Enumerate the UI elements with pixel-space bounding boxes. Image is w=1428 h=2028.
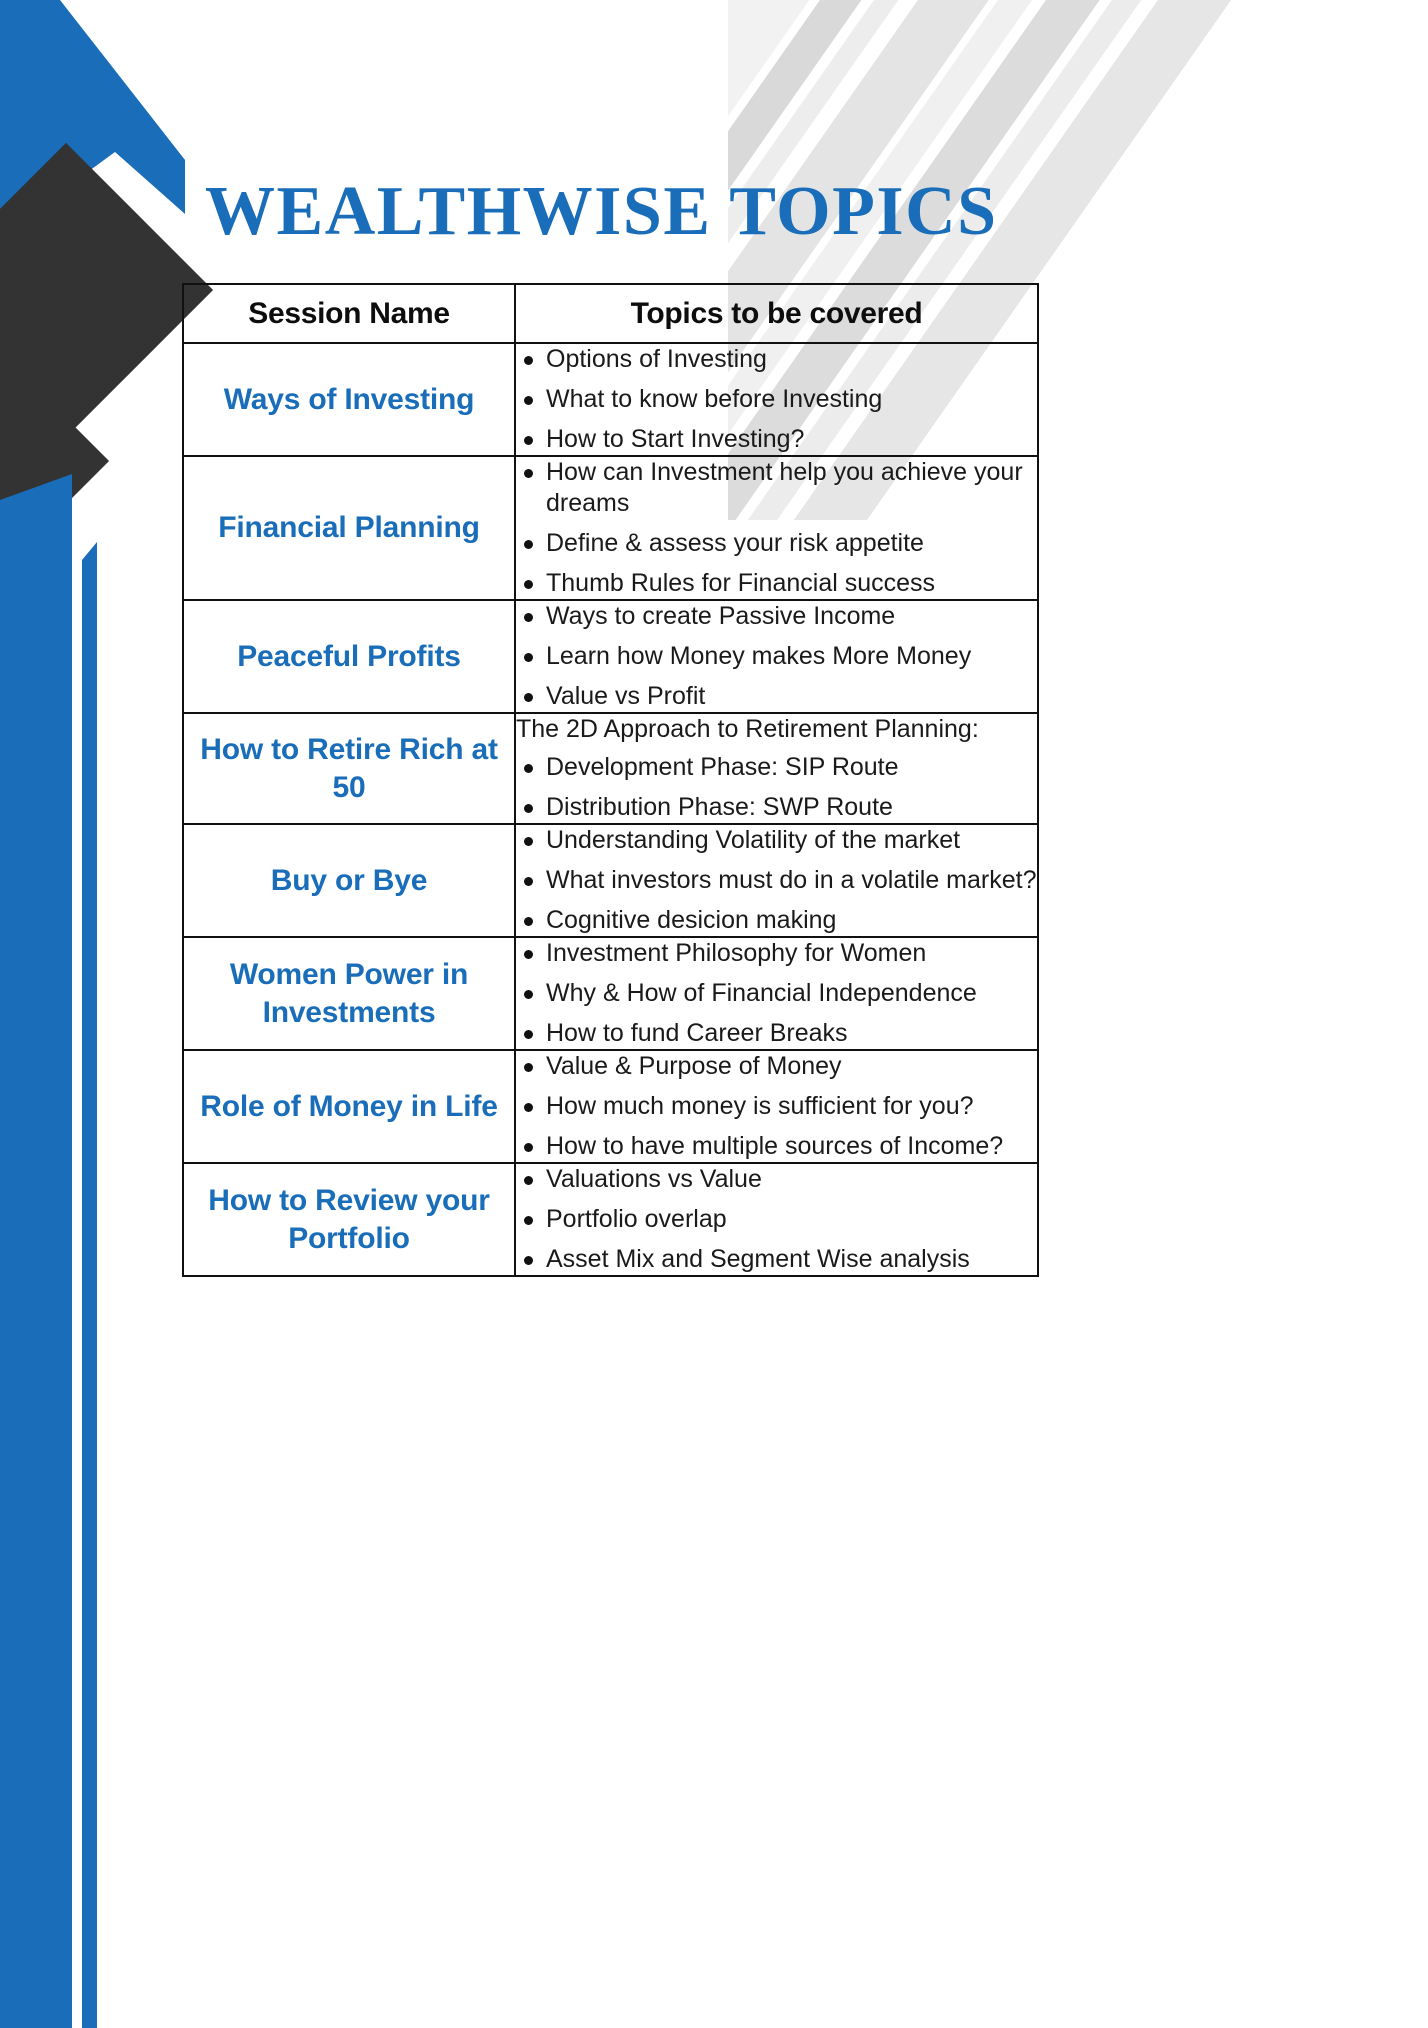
topic-item: What to know before Investing (546, 384, 1037, 415)
topic-item: Define & assess your risk appetite (546, 528, 1037, 559)
topic-item: How can Investment help you achieve your… (546, 457, 1037, 519)
topics-cell: Valuations vs ValuePortfolio overlapAsse… (515, 1163, 1038, 1276)
session-name-cell: Financial Planning (183, 456, 515, 600)
topic-item: How to fund Career Breaks (546, 1018, 1037, 1049)
topics-list: How can Investment help you achieve your… (516, 457, 1037, 599)
topic-item: How to have multiple sources of Income? (546, 1131, 1037, 1162)
topic-item: Distribution Phase: SWP Route (546, 792, 1037, 823)
topic-item: Options of Investing (546, 344, 1037, 375)
topic-item: Cognitive desicion making (546, 905, 1037, 936)
topics-cell: Value & Purpose of MoneyHow much money i… (515, 1050, 1038, 1163)
blue-chevron-shape (0, 0, 185, 430)
session-name-cell: How to Review your Portfolio (183, 1163, 515, 1276)
dark-diamond-small-shape (0, 355, 109, 567)
table-row: How to Review your PortfolioValuations v… (183, 1163, 1038, 1276)
table-header: Session Name Topics to be covered (183, 284, 1038, 343)
topic-item: Valuations vs Value (546, 1164, 1037, 1195)
page-title: WEALTHWISE TOPICS (205, 172, 998, 252)
topics-cell: Investment Philosophy for WomenWhy & How… (515, 937, 1038, 1050)
topics-intro-line: The 2D Approach to Retirement Planning: (516, 714, 1037, 745)
topic-item: Value vs Profit (546, 681, 1037, 712)
blue-thin-vertical-bar (82, 560, 97, 2028)
session-name-cell: Role of Money in Life (183, 1050, 515, 1163)
topics-list: Development Phase: SIP RouteDistribution… (516, 752, 1037, 823)
wealthwise-topics-table: Session Name Topics to be covered Ways o… (182, 283, 1039, 1277)
column-header-topics: Topics to be covered (515, 284, 1038, 343)
topics-cell: The 2D Approach to Retirement Planning:D… (515, 713, 1038, 824)
topic-item: Thumb Rules for Financial success (546, 568, 1037, 599)
topics-cell: Understanding Volatility of the marketWh… (515, 824, 1038, 937)
topic-item: Why & How of Financial Independence (546, 978, 1037, 1009)
session-name-cell: How to Retire Rich at 50 (183, 713, 515, 824)
session-name-cell: Women Power in Investments (183, 937, 515, 1050)
topics-list: Understanding Volatility of the marketWh… (516, 825, 1037, 936)
table-header-row: Session Name Topics to be covered (183, 284, 1038, 343)
session-name-cell: Peaceful Profits (183, 600, 515, 713)
topics-list: Ways to create Passive IncomeLearn how M… (516, 601, 1037, 712)
session-name-cell: Buy or Bye (183, 824, 515, 937)
topics-cell: Ways to create Passive IncomeLearn how M… (515, 600, 1038, 713)
table-row: How to Retire Rich at 50The 2D Approach … (183, 713, 1038, 824)
topic-item: Investment Philosophy for Women (546, 938, 1037, 969)
topics-cell: How can Investment help you achieve your… (515, 456, 1038, 600)
topic-item: Development Phase: SIP Route (546, 752, 1037, 783)
topic-item: Understanding Volatility of the market (546, 825, 1037, 856)
topic-item: How to Start Investing? (546, 424, 1037, 455)
table-row: Financial PlanningHow can Investment hel… (183, 456, 1038, 600)
table-body: Ways of InvestingOptions of InvestingWha… (183, 343, 1038, 1276)
topic-item: What investors must do in a volatile mar… (546, 865, 1037, 896)
topic-item: Asset Mix and Segment Wise analysis (546, 1244, 1037, 1275)
session-name-cell: Ways of Investing (183, 343, 515, 456)
table-row: Peaceful ProfitsWays to create Passive I… (183, 600, 1038, 713)
table-row: Buy or ByeUnderstanding Volatility of th… (183, 824, 1038, 937)
topic-item: Ways to create Passive Income (546, 601, 1037, 632)
table-row: Women Power in InvestmentsInvestment Phi… (183, 937, 1038, 1050)
topic-item: Portfolio overlap (546, 1204, 1037, 1235)
topics-cell: Options of InvestingWhat to know before … (515, 343, 1038, 456)
topic-item: Learn how Money makes More Money (546, 641, 1037, 672)
topics-list: Valuations vs ValuePortfolio overlapAsse… (516, 1164, 1037, 1275)
table-row: Ways of InvestingOptions of InvestingWha… (183, 343, 1038, 456)
column-header-session-name: Session Name (183, 284, 515, 343)
topic-item: How much money is sufficient for you? (546, 1091, 1037, 1122)
topics-list: Options of InvestingWhat to know before … (516, 344, 1037, 455)
topic-item: Value & Purpose of Money (546, 1051, 1037, 1082)
topics-list: Investment Philosophy for WomenWhy & How… (516, 938, 1037, 1049)
table-row: Role of Money in LifeValue & Purpose of … (183, 1050, 1038, 1163)
blue-vertical-bar (0, 500, 72, 2028)
topics-list: Value & Purpose of MoneyHow much money i… (516, 1051, 1037, 1162)
